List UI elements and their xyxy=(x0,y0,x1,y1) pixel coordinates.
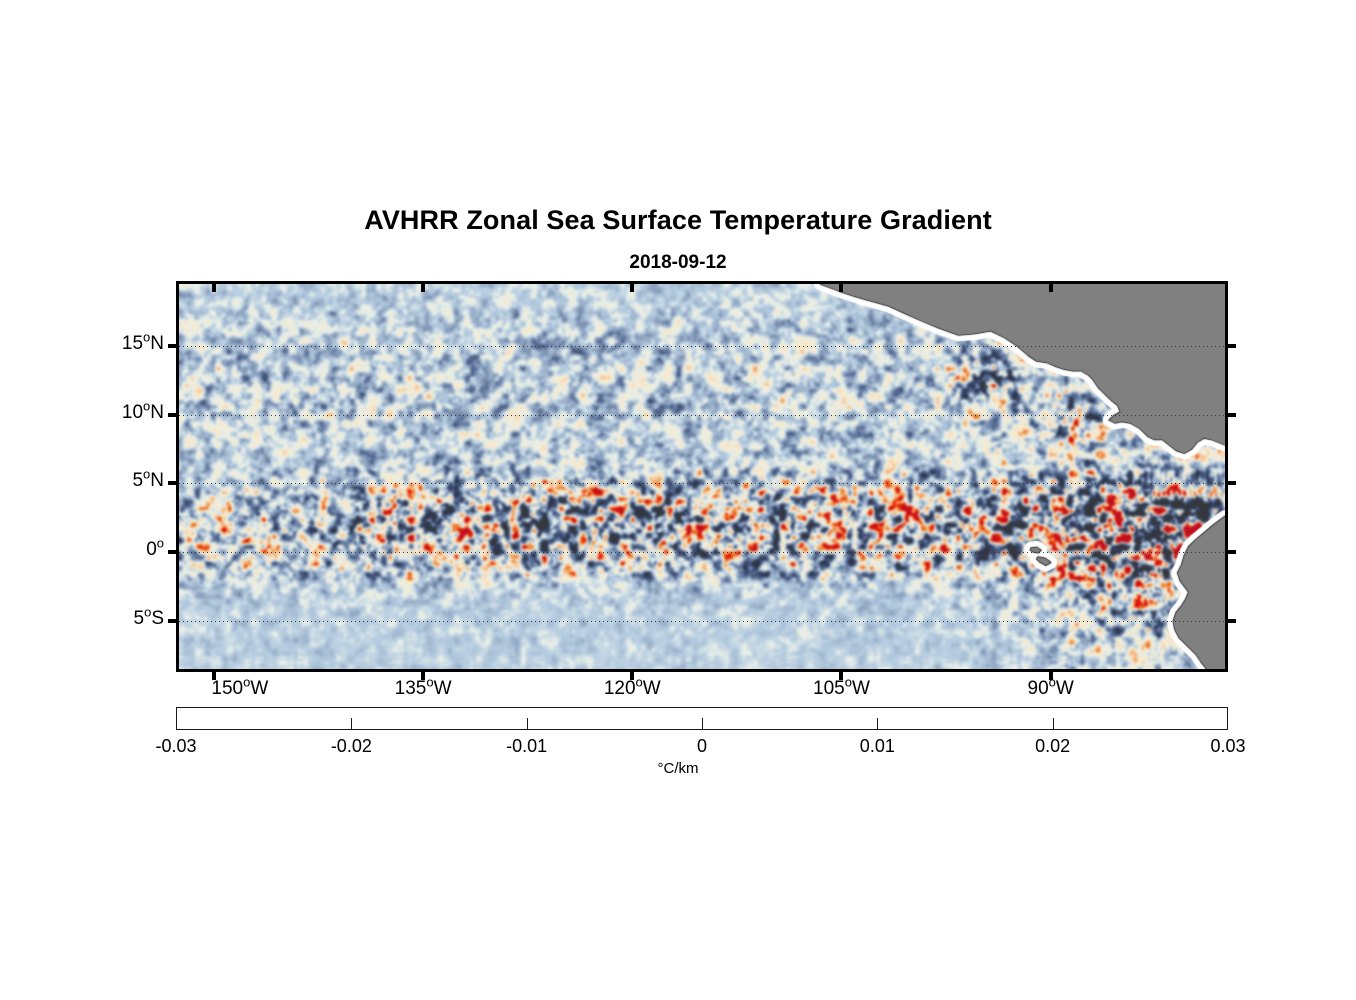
x-tick-top-1 xyxy=(421,281,425,292)
x-label-0-degree-symbol: o xyxy=(243,675,250,690)
x-axis-tick-label-2: 120oW xyxy=(604,678,661,700)
page-title: AVHRR Zonal Sea Surface Temperature Grad… xyxy=(0,205,1356,236)
y-label-1-value: 10 xyxy=(122,402,143,423)
x-axis-tick-label-4: 90oW xyxy=(1028,678,1074,700)
colorbar-tick-label-6: 0.03 xyxy=(1210,736,1245,757)
x-axis-tick-label-1: 135oW xyxy=(395,678,452,700)
y-tick-0 xyxy=(168,344,179,348)
x-label-4-value: 90 xyxy=(1028,678,1049,699)
figure-subtitle: 2018-09-12 xyxy=(0,252,1356,274)
y-label-4-hemisphere: S xyxy=(151,608,164,629)
colorbar-tick-label-2: -0.01 xyxy=(506,736,547,757)
colorbar-tick-1 xyxy=(351,718,352,729)
x-label-3-value: 105 xyxy=(813,678,845,699)
colorbar-tick-label-3: 0 xyxy=(697,736,707,757)
y-tick-right-4 xyxy=(1225,619,1236,623)
y-tick-1 xyxy=(168,413,179,417)
x-label-1-value: 135 xyxy=(395,678,427,699)
colorbar-tick-5 xyxy=(1053,718,1054,729)
y-label-0-hemisphere: N xyxy=(150,333,164,354)
colorbar-tick-label-1: -0.02 xyxy=(331,736,372,757)
y-tick-right-2 xyxy=(1225,481,1236,485)
y-tick-2 xyxy=(168,481,179,485)
colorbar-tick-label-0: -0.03 xyxy=(155,736,196,757)
y-axis-tick-label-1: 10oN xyxy=(122,402,164,424)
x-label-0-value: 150 xyxy=(211,678,243,699)
y-axis-tick-label-0: 15oN xyxy=(122,333,164,355)
map-axes xyxy=(176,281,1228,672)
x-tick-top-2 xyxy=(630,281,634,292)
x-label-0-hemisphere: W xyxy=(250,678,268,699)
x-label-1-hemisphere: W xyxy=(434,678,452,699)
y-axis-tick-label-4: 5oS xyxy=(134,608,165,630)
y-tick-right-3 xyxy=(1225,550,1236,554)
y-tick-right-0 xyxy=(1225,344,1236,348)
y-tick-right-1 xyxy=(1225,413,1236,417)
colorbar-tick-label-5: 0.02 xyxy=(1035,736,1070,757)
figure-canvas: AVHRR Zonal Sea Surface Temperature Grad… xyxy=(0,0,1356,1000)
y-axis-tick-label-2: 5oN xyxy=(132,470,164,492)
y-label-3-degree-symbol: o xyxy=(157,536,164,551)
y-axis-tick-label-3: 0o xyxy=(146,539,164,561)
x-label-1-degree-symbol: o xyxy=(426,675,433,690)
x-axis-tick-label-0: 150oW xyxy=(211,678,268,700)
y-label-4-value: 5 xyxy=(134,608,145,629)
x-axis-tick-label-3: 105oW xyxy=(813,678,870,700)
x-tick-top-0 xyxy=(212,281,216,292)
x-label-2-hemisphere: W xyxy=(643,678,661,699)
colorbar-tick-4 xyxy=(877,718,878,729)
colorbar-tick-label-4: 0.01 xyxy=(860,736,895,757)
x-label-4-hemisphere: W xyxy=(1056,678,1074,699)
colorbar-tick-2 xyxy=(527,718,528,729)
x-tick-top-4 xyxy=(1049,281,1053,292)
sst-gradient-heatmap xyxy=(179,284,1225,669)
x-label-2-degree-symbol: o xyxy=(636,675,643,690)
colorbar-tick-3 xyxy=(702,718,703,729)
y-label-3-value: 0 xyxy=(146,539,157,560)
y-tick-4 xyxy=(168,619,179,623)
y-tick-3 xyxy=(168,550,179,554)
x-label-3-degree-symbol: o xyxy=(845,675,852,690)
x-label-3-hemisphere: W xyxy=(852,678,870,699)
x-label-2-value: 120 xyxy=(604,678,636,699)
y-label-2-hemisphere: N xyxy=(150,470,164,491)
y-label-2-value: 5 xyxy=(132,470,143,491)
x-tick-top-3 xyxy=(839,281,843,292)
y-label-0-value: 15 xyxy=(122,333,143,354)
y-label-1-hemisphere: N xyxy=(150,402,164,423)
colorbar-unit-label: °C/km xyxy=(0,760,1356,777)
